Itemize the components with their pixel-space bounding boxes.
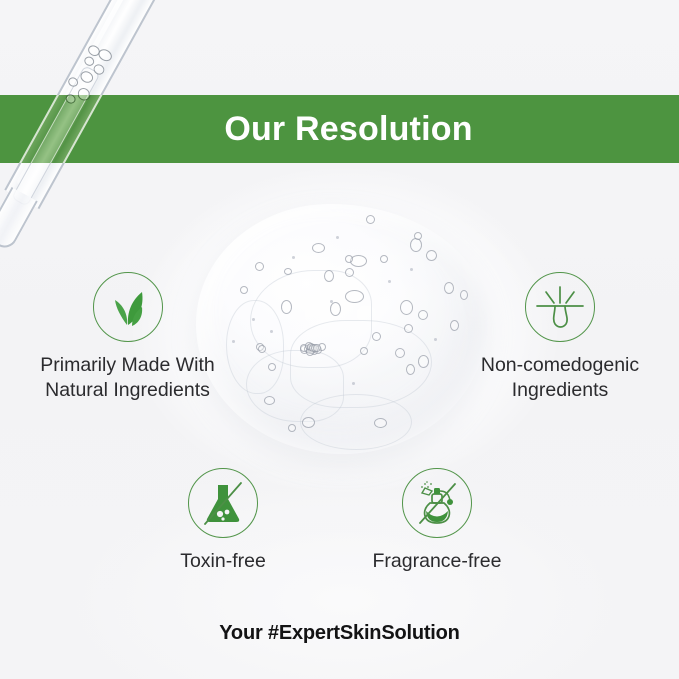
feature-label: Fragrance-free bbox=[373, 549, 502, 574]
feature-label: Primarily Made With Natural Ingredients bbox=[40, 353, 214, 403]
product-feature-banner: Our Resolution Primarily Made With Natur… bbox=[0, 0, 679, 679]
gel-bubble bbox=[345, 255, 353, 263]
gel-bubble bbox=[288, 424, 296, 432]
gel-bubble bbox=[255, 262, 264, 271]
gel-bubble bbox=[324, 270, 334, 282]
gel-bubble bbox=[345, 268, 354, 277]
gel-bubble bbox=[312, 243, 325, 253]
no-flask-icon bbox=[188, 468, 258, 538]
gel-bubble bbox=[418, 355, 429, 368]
gel-speck bbox=[352, 382, 355, 385]
gel-bubble bbox=[426, 250, 437, 261]
gel-bubble bbox=[360, 347, 368, 355]
gel-bubble bbox=[418, 310, 428, 320]
gel-bubble bbox=[258, 345, 266, 353]
feature-fragrance-free: Fragrance-free bbox=[368, 468, 506, 574]
gel-bubble bbox=[264, 396, 275, 405]
gel-swirl bbox=[300, 394, 412, 450]
gel-bubble bbox=[444, 282, 454, 294]
gel-speck bbox=[292, 256, 295, 259]
gel-bubble bbox=[380, 255, 388, 263]
gel-bubble bbox=[404, 324, 413, 333]
gel-bubble bbox=[406, 364, 415, 375]
pore-follicle-icon bbox=[525, 272, 595, 342]
gel-bubble bbox=[345, 290, 364, 303]
dropper-over-banner bbox=[0, 95, 679, 163]
gel-bubble bbox=[284, 268, 292, 275]
feature-label: Toxin-free bbox=[180, 549, 266, 574]
gel-bubble bbox=[268, 363, 276, 371]
feature-natural-ingredients: Primarily Made With Natural Ingredients bbox=[20, 272, 235, 403]
gel-bubble bbox=[330, 302, 341, 316]
gel-bubble bbox=[366, 215, 375, 224]
gel-speck bbox=[330, 300, 333, 303]
gel-bubble bbox=[281, 300, 292, 314]
gel-bubble bbox=[400, 300, 413, 315]
gel-bubble bbox=[302, 417, 315, 428]
feature-toxin-free: Toxin-free bbox=[158, 468, 288, 574]
gel-speck bbox=[434, 338, 437, 341]
feature-label: Non-comedogenic Ingredients bbox=[481, 353, 639, 403]
gel-bubble bbox=[395, 348, 405, 358]
gel-speck bbox=[336, 236, 339, 239]
tagline: Your #ExpertSkinSolution bbox=[0, 622, 679, 645]
gel-speck bbox=[270, 330, 273, 333]
gel-bubble bbox=[414, 232, 422, 240]
gel-bubble bbox=[410, 238, 422, 252]
gel-bubble bbox=[240, 286, 248, 294]
gel-speck bbox=[252, 318, 255, 321]
gel-bubble bbox=[372, 332, 381, 341]
gel-bubble bbox=[374, 418, 387, 428]
feature-non-comedogenic: Non-comedogenic Ingredients bbox=[455, 272, 665, 403]
gel-speck bbox=[410, 268, 413, 271]
gel-speck bbox=[388, 280, 391, 283]
leaves-icon bbox=[93, 272, 163, 342]
gel-bubble bbox=[313, 344, 321, 352]
no-perfume-bottle-icon bbox=[402, 468, 472, 538]
